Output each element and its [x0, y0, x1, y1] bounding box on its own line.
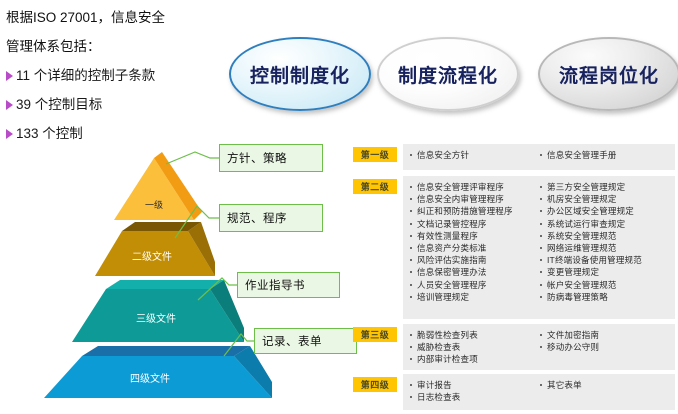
square-bullet-icon	[540, 346, 542, 348]
square-bullet-icon	[410, 358, 412, 360]
level-badge-2: 第二级	[353, 179, 397, 194]
level-badge-1: 第一级	[353, 147, 397, 162]
triangle-bullet-icon	[6, 71, 13, 81]
square-bullet-icon	[540, 235, 542, 237]
square-bullet-icon	[410, 235, 412, 237]
document-list-item: 变更管理规定	[540, 266, 675, 278]
level-3-documents-panel: 脆弱性检查列表威胁检查表内部审计检查项 文件加密指南移动办公守则	[403, 324, 675, 370]
document-list-item: 系统安全管理规范	[540, 230, 675, 242]
callout-work-instruction: 作业指导书	[237, 272, 340, 298]
square-bullet-icon	[410, 334, 412, 336]
document-list-item-label: 信息安全方针	[417, 149, 469, 161]
level-badge-3: 第三级	[353, 327, 397, 342]
document-list-item: 风险评估实施指南	[410, 254, 534, 266]
document-list-item: 信息安全内审管理程序	[410, 193, 534, 205]
square-bullet-icon	[540, 223, 542, 225]
level-2-documents-panel: 信息安全管理评审程序信息安全内审管理程序纠正和预防措施管理程序文档记录管控程序有…	[403, 176, 675, 319]
level-4-column-left: 审计报告日志检查表	[403, 379, 534, 405]
pyramid-tier-3-top	[106, 280, 224, 289]
document-list-item: 纠正和预防措施管理程序	[410, 205, 534, 217]
level-1-column-right: 信息安全管理手册	[534, 149, 675, 165]
callout-standard-procedure: 规范、程序	[219, 204, 323, 232]
document-list-item-label: 防病毒管理策略	[547, 291, 608, 303]
square-bullet-icon	[540, 296, 542, 298]
document-list-item-label: 文档记录管控程序	[417, 218, 487, 230]
intro-bullet-label: 11 个详细的控制子条款	[16, 66, 155, 86]
square-bullet-icon	[540, 154, 542, 156]
document-list-item: 人员安全管理程序	[410, 279, 534, 291]
square-bullet-icon	[540, 210, 542, 212]
document-list-item: 内部审计检查项	[410, 353, 534, 365]
callout-record-form: 记录、表单	[254, 328, 357, 354]
document-list-item: 帐户安全管理规范	[540, 279, 675, 291]
document-list-item-label: 文件加密指南	[547, 329, 599, 341]
document-list-item: 系统试运行审查规定	[540, 218, 675, 230]
square-bullet-icon	[410, 259, 412, 261]
document-list-item-label: 日志检查表	[417, 391, 461, 403]
document-list-item: 培训管理规定	[410, 291, 534, 303]
square-bullet-icon	[540, 247, 542, 249]
document-list-item-label: 信息安全内审管理程序	[417, 193, 504, 205]
document-list-item: 信息安全管理评审程序	[410, 181, 534, 193]
document-list-item-label: 办公区域安全管理规定	[547, 205, 634, 217]
pyramid-tier-2-top	[122, 222, 201, 231]
level-4-documents-panel: 审计报告日志检查表 其它表单	[403, 374, 675, 410]
document-list-item: 信息安全方针	[410, 149, 534, 161]
level-2-column-left: 信息安全管理评审程序信息安全内审管理程序纠正和预防措施管理程序文档记录管控程序有…	[403, 181, 534, 314]
level-3-column-left: 脆弱性检查列表威胁检查表内部审计检查项	[403, 329, 534, 365]
document-list-item-label: 网络运维管理规范	[547, 242, 617, 254]
document-list-item: 办公区域安全管理规定	[540, 205, 675, 217]
square-bullet-icon	[410, 284, 412, 286]
level-badge-4: 第四级	[353, 377, 397, 392]
level-1-documents-panel: 信息安全方针 信息安全管理手册	[403, 144, 675, 170]
pyramid-tier-2-label: 二级文件	[132, 250, 172, 263]
square-bullet-icon	[410, 186, 412, 188]
document-list-item: 日志检查表	[410, 391, 534, 403]
document-list-item: IT终端设备使用管理规范	[540, 254, 675, 266]
ellipse-control-standardization: 控制制度化	[229, 37, 371, 111]
document-list-item: 有效性测量程序	[410, 230, 534, 242]
document-list-item-label: 有效性测量程序	[417, 230, 478, 242]
pyramid-tier-3-label: 三级文件	[136, 312, 176, 325]
level-4-column-right: 其它表单	[534, 379, 675, 405]
square-bullet-icon	[410, 223, 412, 225]
square-bullet-icon	[410, 210, 412, 212]
intro-bullet-label: 39 个控制目标	[16, 95, 102, 115]
document-list-item-label: 信息安全管理评审程序	[417, 181, 504, 193]
document-list-item-label: 信息资产分类标准	[417, 242, 487, 254]
callout-policy-strategy: 方针、策略	[219, 144, 323, 172]
square-bullet-icon	[410, 346, 412, 348]
level-1-column-left: 信息安全方针	[403, 149, 534, 165]
triangle-bullet-icon	[6, 129, 13, 139]
square-bullet-icon	[540, 271, 542, 273]
document-list-item-label: 纠正和预防措施管理程序	[417, 205, 513, 217]
document-list-item: 文件加密指南	[540, 329, 675, 341]
intro-text-block: 根据ISO 27001，信息安全 管理体系包括： 11 个详细的控制子条款 39…	[6, 8, 221, 153]
document-list-item-label: IT终端设备使用管理规范	[547, 254, 642, 266]
intro-bullet-label: 133 个控制	[16, 124, 83, 144]
square-bullet-icon	[540, 186, 542, 188]
document-list-item: 机房安全管理规定	[540, 193, 675, 205]
square-bullet-icon	[410, 198, 412, 200]
document-list-item-label: 威胁检查表	[417, 341, 461, 353]
document-list-item-label: 系统安全管理规范	[547, 230, 617, 242]
pyramid-tier-1-label: 一级	[145, 199, 163, 210]
document-list-item-label: 审计报告	[417, 379, 452, 391]
document-list-item: 其它表单	[540, 379, 675, 391]
document-list-item: 信息资产分类标准	[410, 242, 534, 254]
square-bullet-icon	[540, 334, 542, 336]
square-bullet-icon	[540, 384, 542, 386]
intro-bullet-item: 11 个详细的控制子条款	[6, 66, 221, 86]
document-list-item: 信息保密管理办法	[410, 266, 534, 278]
intro-line: 管理体系包括：	[6, 37, 221, 57]
document-list-item-label: 系统试运行审查规定	[547, 218, 625, 230]
document-list-item: 第三方安全管理规定	[540, 181, 675, 193]
level-3-column-right: 文件加密指南移动办公守则	[534, 329, 675, 365]
document-list-item-label: 人员安全管理程序	[417, 279, 487, 291]
document-list-item-label: 变更管理规定	[547, 266, 599, 278]
ellipse-standard-process: 制度流程化	[377, 37, 519, 111]
square-bullet-icon	[410, 154, 412, 156]
square-bullet-icon	[540, 198, 542, 200]
document-list-item-label: 机房安全管理规定	[547, 193, 617, 205]
document-list-item-label: 移动办公守则	[547, 341, 599, 353]
document-list-item-label: 帐户安全管理规范	[547, 279, 617, 291]
document-list-item: 威胁检查表	[410, 341, 534, 353]
document-list-item-label: 风险评估实施指南	[417, 254, 487, 266]
ellipse-process-position: 流程岗位化	[538, 37, 678, 111]
document-list-item-label: 第三方安全管理规定	[547, 181, 625, 193]
document-list-item-label: 信息安全管理手册	[547, 149, 617, 161]
square-bullet-icon	[540, 259, 542, 261]
intro-line: 根据ISO 27001，信息安全	[6, 8, 221, 28]
document-list-item: 脆弱性检查列表	[410, 329, 534, 341]
intro-bullet-item: 39 个控制目标	[6, 95, 221, 115]
document-list-item-label: 其它表单	[547, 379, 582, 391]
pyramid-tier-4-top	[82, 346, 250, 356]
square-bullet-icon	[410, 247, 412, 249]
document-list-item: 文档记录管控程序	[410, 218, 534, 230]
square-bullet-icon	[410, 384, 412, 386]
document-list-item-label: 内部审计检查项	[417, 353, 478, 365]
square-bullet-icon	[410, 396, 412, 398]
intro-bullet-item: 133 个控制	[6, 124, 221, 144]
document-list-item: 网络运维管理规范	[540, 242, 675, 254]
level-2-column-right: 第三方安全管理规定机房安全管理规定办公区域安全管理规定系统试运行审查规定系统安全…	[534, 181, 675, 314]
document-list-item-label: 信息保密管理办法	[417, 266, 487, 278]
document-list-item: 移动办公守则	[540, 341, 675, 353]
pyramid-tier-4-label: 四级文件	[130, 372, 170, 385]
document-list-item-label: 脆弱性检查列表	[417, 329, 478, 341]
document-list-item-label: 培训管理规定	[417, 291, 469, 303]
triangle-bullet-icon	[6, 100, 13, 110]
square-bullet-icon	[540, 284, 542, 286]
square-bullet-icon	[410, 271, 412, 273]
document-list-item: 信息安全管理手册	[540, 149, 675, 161]
document-list-item: 审计报告	[410, 379, 534, 391]
document-list-item: 防病毒管理策略	[540, 291, 675, 303]
square-bullet-icon	[410, 296, 412, 298]
